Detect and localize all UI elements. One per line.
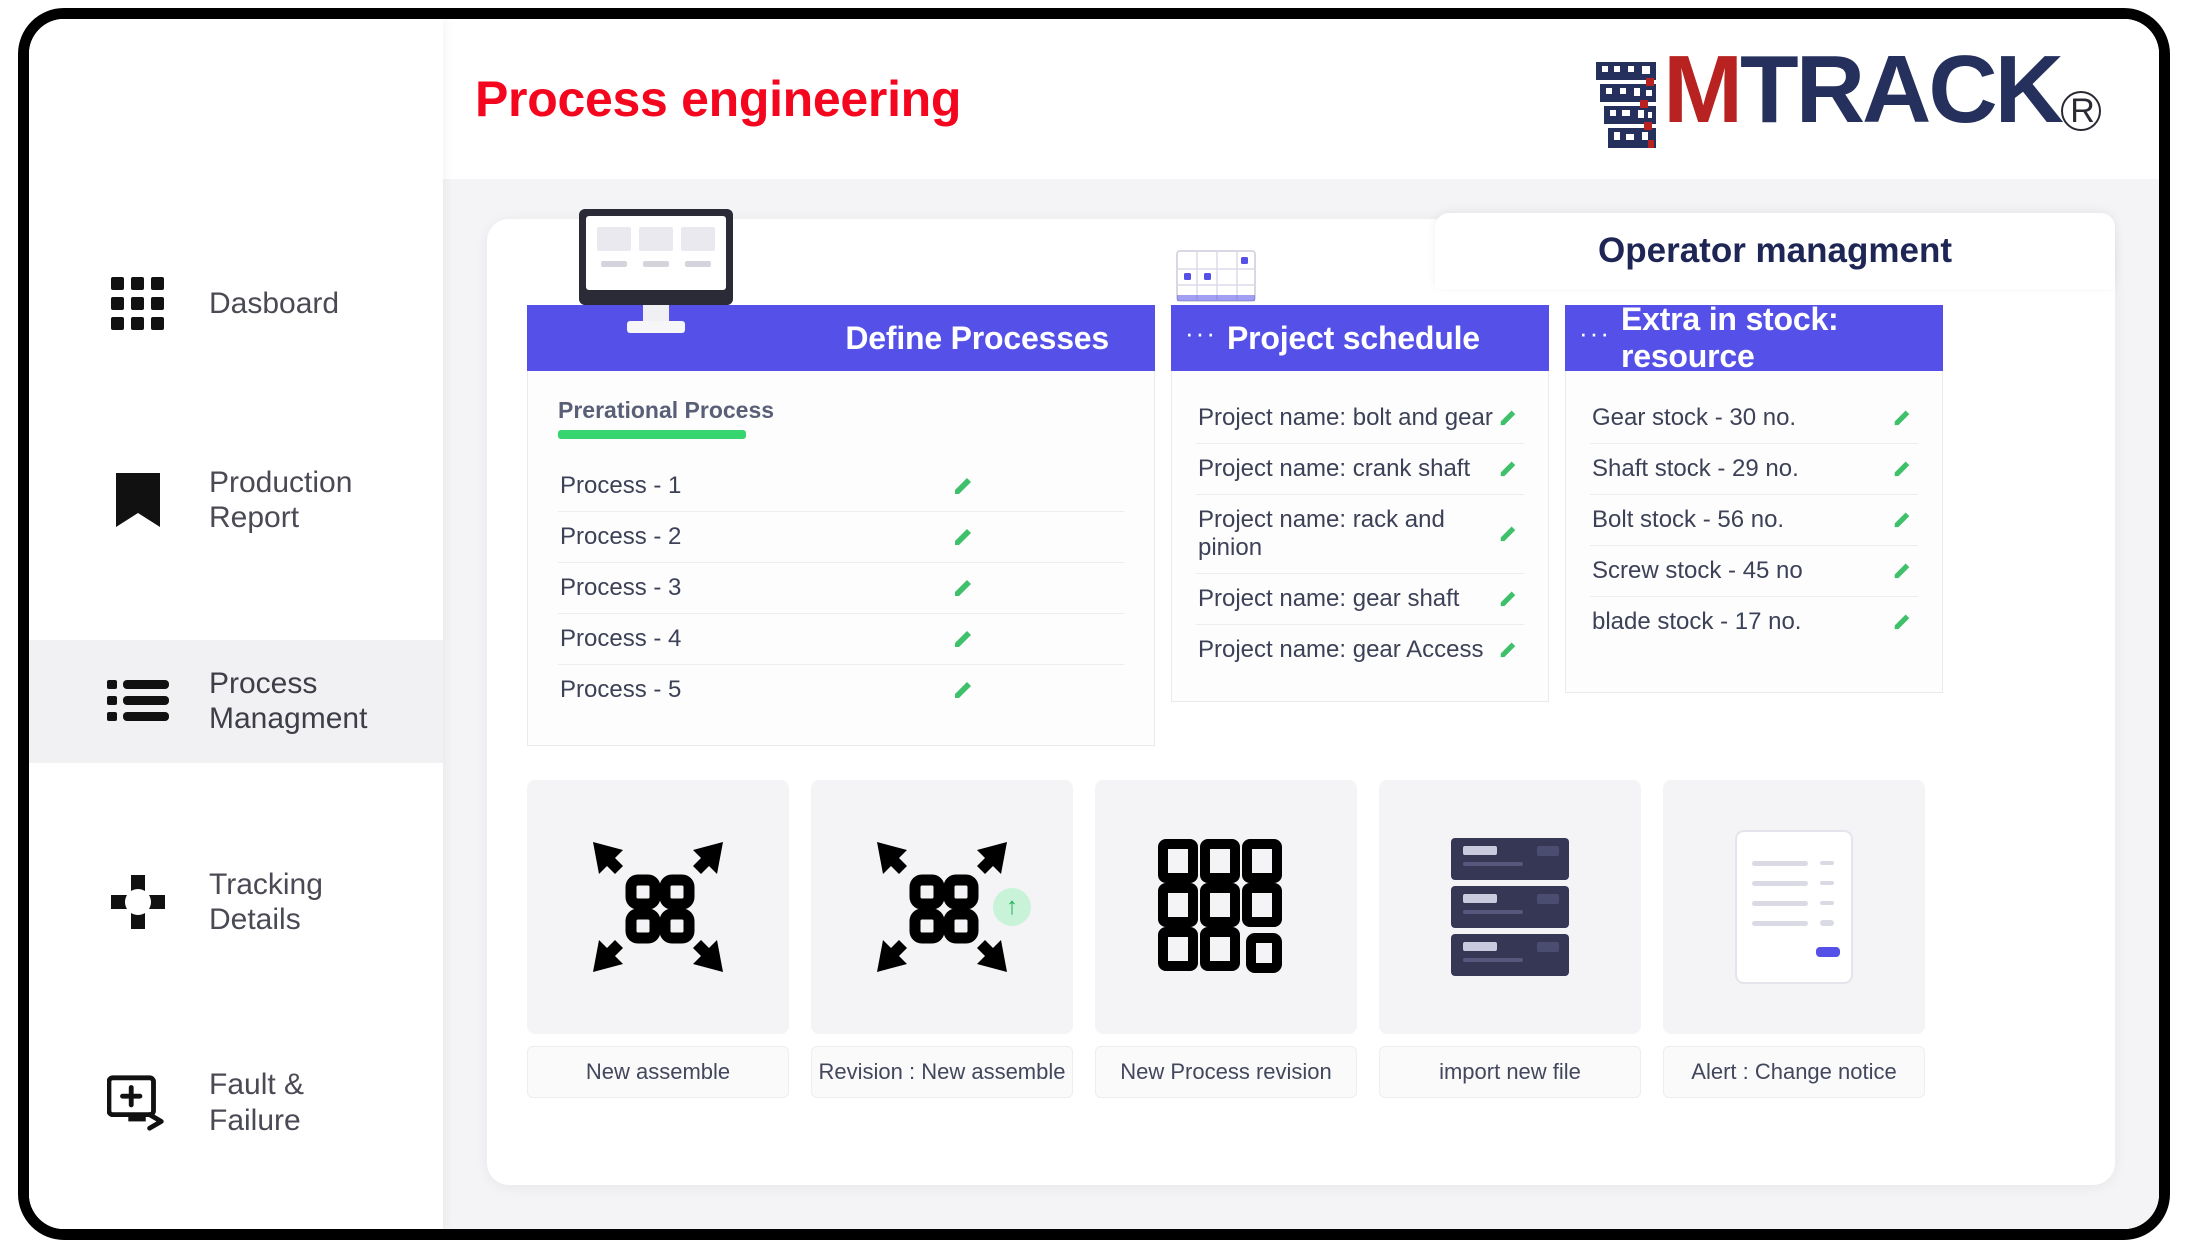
stock-label: Gear stock - 30 no.	[1592, 404, 1796, 432]
list-item[interactable]: Project name: gear shaft	[1196, 574, 1524, 625]
stock-label: Screw stock - 45 no	[1592, 557, 1803, 585]
list-item[interactable]: Gear stock - 30 no.	[1590, 393, 1918, 444]
logo-track: TRACK	[1740, 44, 2061, 136]
action-artwork	[1095, 780, 1357, 1034]
stock-label: Shaft stock - 29 no.	[1592, 455, 1799, 483]
project-label: Project name: rack and pinion	[1198, 506, 1498, 562]
edit-icon[interactable]	[1892, 610, 1914, 635]
card-title: Project schedule	[1227, 320, 1480, 357]
action-artwork	[1663, 780, 1925, 1034]
list-item[interactable]: Project name: rack and pinion	[1196, 495, 1524, 574]
cards-row: Define Processes Prerational Process Pro…	[527, 305, 2075, 746]
list-icon	[107, 670, 169, 732]
list-item[interactable]: Project name: crank shaft	[1196, 444, 1524, 495]
process-label: Process - 2	[560, 523, 681, 551]
sidebar-item-label: Production Report	[209, 465, 399, 536]
card-define-processes: Define Processes Prerational Process Pro…	[527, 305, 1155, 746]
edit-icon[interactable]	[1498, 522, 1520, 547]
assemble-icon	[583, 832, 733, 982]
action-artwork: ↑	[811, 780, 1073, 1034]
list-item[interactable]: Process - 2	[558, 512, 1124, 563]
process-label: Process - 5	[560, 676, 681, 704]
list-item[interactable]: Shaft stock - 29 no.	[1590, 444, 1918, 495]
app-window: Dasboard Production Report	[29, 19, 2159, 1229]
process-label: Process - 3	[560, 574, 681, 602]
action-artwork	[1379, 780, 1641, 1034]
app-header: Process engineering	[443, 19, 2159, 179]
list-item[interactable]: Project name: gear Access	[1196, 625, 1524, 675]
list-item[interactable]: Screw stock - 45 no	[1590, 546, 1918, 597]
qr-code-mark-icon	[1591, 58, 1673, 154]
list-item[interactable]: Process - 1	[558, 461, 1124, 512]
project-label: Project name: gear Access	[1198, 636, 1483, 664]
stock-label: Bolt stock - 56 no.	[1592, 506, 1784, 534]
card-body: Gear stock - 30 no. Shaft stock - 29 no.	[1565, 371, 1943, 693]
edit-icon[interactable]	[1892, 508, 1914, 533]
edit-icon[interactable]	[952, 575, 974, 602]
mtrack-logo: M TRACK R	[1591, 44, 2101, 154]
stock-label: blade stock - 17 no.	[1592, 608, 1801, 636]
action-label: New assemble	[527, 1046, 789, 1098]
card-title: Extra in stock: resource	[1621, 301, 1943, 375]
action-artwork	[527, 780, 789, 1034]
action-revision-new-assemble[interactable]: ↑ Revision : New assemble	[811, 780, 1073, 1098]
tab-operator-managment[interactable]: Operator managment	[1435, 213, 2115, 289]
list-item[interactable]: Process - 5	[558, 665, 1124, 715]
project-label: Project name: bolt and gear	[1198, 404, 1493, 432]
edit-icon[interactable]	[1892, 457, 1914, 482]
action-import-new-file[interactable]: import new file	[1379, 780, 1641, 1098]
operator-panel: Operator managment	[487, 219, 2115, 1185]
desktop-monitor-icon	[571, 209, 741, 335]
process-label: Process - 4	[560, 625, 681, 653]
edit-icon[interactable]	[952, 626, 974, 653]
section-label: Prerational Process	[558, 397, 1124, 424]
sidebar-item-label: Dasboard	[209, 286, 339, 321]
list-item[interactable]: Bolt stock - 56 no.	[1590, 495, 1918, 546]
sidebar-item-label: Fault & Failure	[209, 1067, 399, 1138]
project-label: Project name: gear shaft	[1198, 585, 1459, 613]
sidebar: Dasboard Production Report	[29, 19, 443, 1229]
section-underline	[558, 430, 746, 439]
dots-decoration: ···	[1185, 320, 1217, 346]
move-arrows-icon	[107, 871, 169, 933]
action-label: Revision : New assemble	[811, 1046, 1073, 1098]
sidebar-item-production-report[interactable]: Production Report	[29, 439, 443, 562]
squares-grid-icon	[1151, 832, 1301, 982]
edit-icon[interactable]	[952, 524, 974, 551]
sidebar-item-fault-failure[interactable]: Fault & Failure	[29, 1041, 443, 1164]
card-project-schedule: ··· Project schedule Project name: bolt …	[1171, 305, 1549, 702]
edit-icon[interactable]	[1498, 457, 1520, 482]
card-body: Prerational Process Process - 1 Proc	[527, 371, 1155, 746]
project-label: Project name: crank shaft	[1198, 455, 1470, 483]
sidebar-item-tracking-details[interactable]: Tracking Details	[29, 841, 443, 964]
list-item[interactable]: Process - 3	[558, 563, 1124, 614]
edit-icon[interactable]	[1892, 406, 1914, 431]
list-item[interactable]: Project name: bolt and gear	[1196, 393, 1524, 444]
edit-icon[interactable]	[1498, 406, 1520, 431]
device-frame: Dasboard Production Report	[18, 8, 2170, 1240]
action-label: New Process revision	[1095, 1046, 1357, 1098]
server-stack-icon	[1445, 832, 1575, 982]
calendar-icon	[1175, 249, 1257, 305]
panel-wrapper: Operator managment	[443, 179, 2159, 1229]
action-label: Alert : Change notice	[1663, 1046, 1925, 1098]
bookmark-icon	[107, 469, 169, 531]
action-label: import new file	[1379, 1046, 1641, 1098]
action-new-assemble[interactable]: New assemble	[527, 780, 789, 1098]
action-alert-change-notice[interactable]: Alert : Change notice	[1663, 780, 1925, 1098]
edit-icon[interactable]	[952, 677, 974, 704]
screen-plus-icon	[107, 1072, 169, 1134]
list-item[interactable]: Process - 4	[558, 614, 1124, 665]
page-title: Process engineering	[475, 70, 961, 128]
dots-decoration: ···	[1579, 320, 1611, 346]
logo-m: M	[1663, 44, 1740, 136]
document-icon	[1732, 827, 1856, 987]
sidebar-item-process-managment[interactable]: Process Managment	[29, 640, 443, 763]
main-content: Process engineering	[443, 19, 2159, 1229]
card-title: Define Processes	[845, 320, 1109, 357]
actions-row: New assemble	[527, 780, 2075, 1098]
action-new-process-revision[interactable]: New Process revision	[1095, 780, 1357, 1098]
upload-badge-icon: ↑	[993, 888, 1031, 926]
edit-icon[interactable]	[952, 473, 974, 500]
process-label: Process - 1	[560, 472, 681, 500]
card-extra-in-stock: ··· Extra in stock: resource Gear stock …	[1565, 305, 1943, 693]
sidebar-item-label: Tracking Details	[209, 867, 399, 938]
edit-icon[interactable]	[1498, 587, 1520, 612]
grid-icon	[107, 273, 169, 335]
registered-icon: R	[2061, 91, 2101, 131]
edit-icon[interactable]	[1498, 638, 1520, 663]
card-header: ··· Extra in stock: resource	[1565, 305, 1943, 371]
card-body: Project name: bolt and gear Project name…	[1171, 371, 1549, 702]
sidebar-item-dasboard[interactable]: Dasboard	[29, 247, 443, 361]
sidebar-item-label: Process Managment	[209, 666, 399, 737]
tab-label: Operator managment	[1598, 231, 1952, 271]
edit-icon[interactable]	[1892, 559, 1914, 584]
card-header: ··· Project schedule	[1171, 305, 1549, 371]
list-item[interactable]: blade stock - 17 no.	[1590, 597, 1918, 647]
